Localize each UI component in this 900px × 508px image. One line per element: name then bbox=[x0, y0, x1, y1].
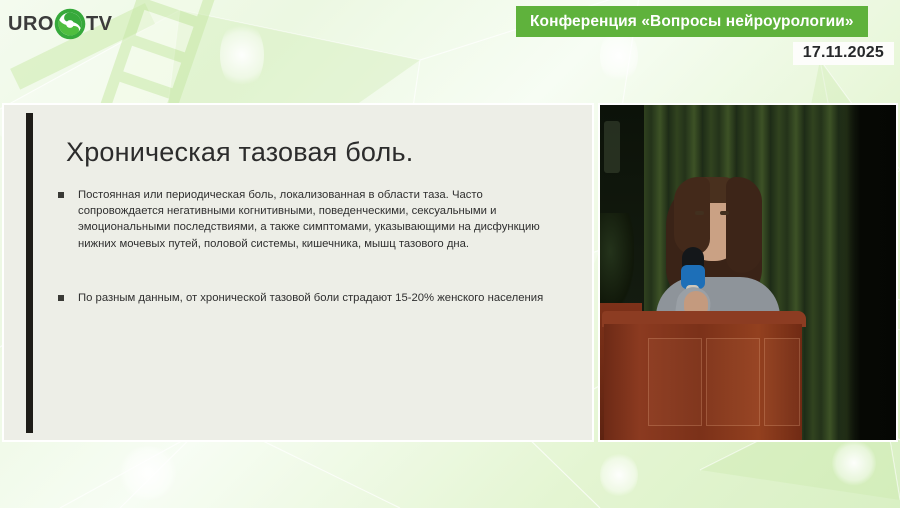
list-item: По разным данным, от хронической тазовой… bbox=[56, 290, 556, 306]
logo-text-tv: TV bbox=[86, 14, 113, 34]
bullet-text: По разным данным, от хронической тазовой… bbox=[78, 292, 543, 304]
list-item: Постоянная или периодическая боль, локал… bbox=[56, 187, 556, 252]
stage-left-object bbox=[604, 121, 620, 173]
podium-panel-3 bbox=[764, 338, 800, 426]
speaker-eye-left bbox=[695, 211, 704, 215]
slide-bullet-list: Постоянная или периодическая боль, локал… bbox=[56, 187, 556, 344]
conference-date-badge: 17.11.2025 bbox=[793, 42, 894, 65]
podium-body bbox=[604, 324, 802, 440]
conference-date-text: 17.11.2025 bbox=[803, 44, 884, 61]
slide-title: Хроническая тазовая боль. bbox=[66, 137, 413, 168]
podium-panel-1 bbox=[648, 338, 702, 426]
bullet-square-icon bbox=[58, 192, 64, 198]
bullet-square-icon bbox=[58, 295, 64, 301]
background-glow-5 bbox=[600, 452, 638, 498]
conference-title-text: Конференция «Вопросы нейроурологии» bbox=[530, 13, 854, 31]
background-glow-1 bbox=[220, 20, 264, 90]
background-glow-4 bbox=[118, 446, 178, 500]
stage-plant bbox=[600, 213, 634, 309]
logo-text-uro: URO bbox=[8, 14, 54, 34]
speaker-hair-left bbox=[674, 177, 710, 255]
conference-title-banner: Конференция «Вопросы нейроурологии» bbox=[516, 6, 868, 37]
slide-accent-bar bbox=[26, 113, 33, 433]
urotv-logo[interactable]: URO TV bbox=[8, 4, 112, 44]
presentation-slide-panel[interactable]: Хроническая тазовая боль. Постоянная или… bbox=[4, 105, 592, 440]
webcast-stage: URO TV Конференция «Вопросы нейроурологи… bbox=[0, 0, 900, 508]
speaker-video-panel[interactable] bbox=[600, 105, 896, 440]
bullet-text: Постоянная или периодическая боль, локал… bbox=[78, 189, 540, 250]
podium-panel-2 bbox=[706, 338, 760, 426]
background-glow-6 bbox=[832, 440, 876, 486]
uro-circular-mark-icon bbox=[53, 7, 87, 41]
stage-right-shadow bbox=[838, 105, 896, 440]
speaker-hair-right bbox=[726, 177, 762, 273]
speaker-eye-right bbox=[720, 211, 729, 215]
